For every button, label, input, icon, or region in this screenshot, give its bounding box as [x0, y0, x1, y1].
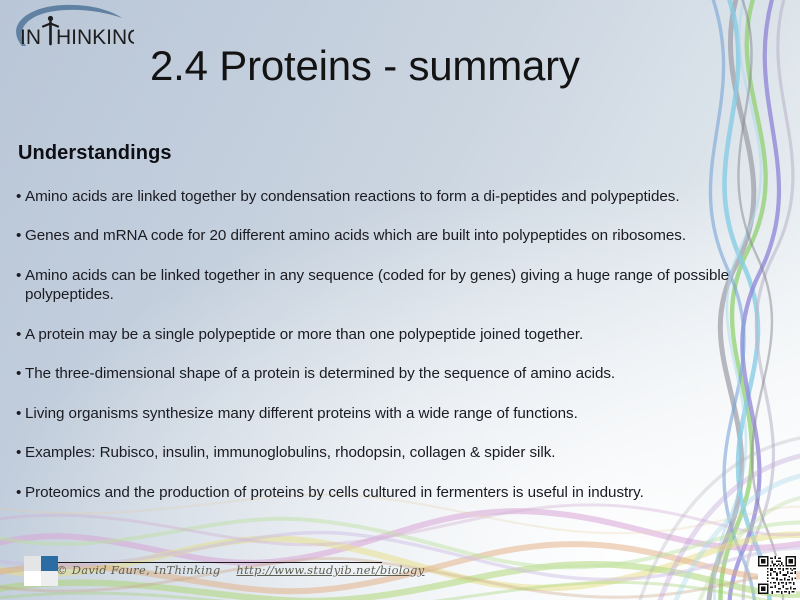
bullet-marker-icon: •	[16, 404, 21, 423]
list-item: • Examples: Rubisco, insulin, immunoglob…	[16, 443, 744, 462]
list-item-text: A protein may be a single polypeptide or…	[25, 326, 583, 343]
bullet-marker-icon: •	[16, 443, 21, 462]
list-item-text: Amino acids are linked together by conde…	[25, 188, 680, 205]
bullet-marker-icon: •	[16, 266, 21, 285]
bullet-marker-icon: •	[16, 364, 21, 383]
understandings-list: • Amino acids are linked together by con…	[16, 187, 744, 502]
bullet-marker-icon: •	[16, 187, 21, 206]
inthinking-logo: IN HINKING	[6, 2, 134, 50]
list-item: • Proteomics and the production of prote…	[16, 483, 744, 502]
list-item: • Genes and mRNA code for 20 different a…	[16, 226, 744, 245]
list-item-text: Genes and mRNA code for 20 different ami…	[25, 227, 686, 244]
footer-square-logo	[24, 556, 58, 586]
footer-credit: © David Faure, InThinking http://www.stu…	[56, 563, 424, 577]
list-item-text: Examples: Rubisco, insulin, immunoglobul…	[25, 444, 555, 461]
qr-code[interactable]	[758, 556, 796, 594]
bullet-marker-icon: •	[16, 483, 21, 502]
footer-copyright-text: © David Faure, InThinking	[56, 563, 221, 577]
list-item: • Amino acids can be linked together in …	[16, 266, 744, 305]
list-item: • Living organisms synthesize many diffe…	[16, 404, 744, 423]
svg-text:HINKING: HINKING	[56, 26, 134, 49]
list-item: • Amino acids are linked together by con…	[16, 187, 744, 206]
list-item-text: Living organisms synthesize many differe…	[25, 405, 578, 422]
list-item: • The three-dimensional shape of a prote…	[16, 364, 744, 383]
content-body: Understandings • Amino acids are linked …	[16, 142, 744, 522]
svg-text:IN: IN	[20, 26, 41, 49]
bullet-marker-icon: •	[16, 325, 21, 344]
page-title: 2.4 Proteins - summary	[150, 43, 750, 89]
bullet-marker-icon: •	[16, 226, 21, 245]
list-item: • A protein may be a single polypeptide …	[16, 325, 744, 344]
list-item-text: The three-dimensional shape of a protein…	[25, 365, 615, 382]
footer-url-link[interactable]: http://www.studyib.net/biology	[236, 563, 424, 577]
footer-square-tl	[24, 556, 41, 571]
section-heading: Understandings	[18, 142, 744, 165]
list-item-text: Proteomics and the production of protein…	[25, 484, 644, 501]
list-item-text: Amino acids can be linked together in an…	[25, 267, 729, 303]
footer-square-bl	[24, 571, 41, 586]
slide-canvas: IN HINKING 2.4 Proteins - summary Unders…	[0, 0, 800, 600]
